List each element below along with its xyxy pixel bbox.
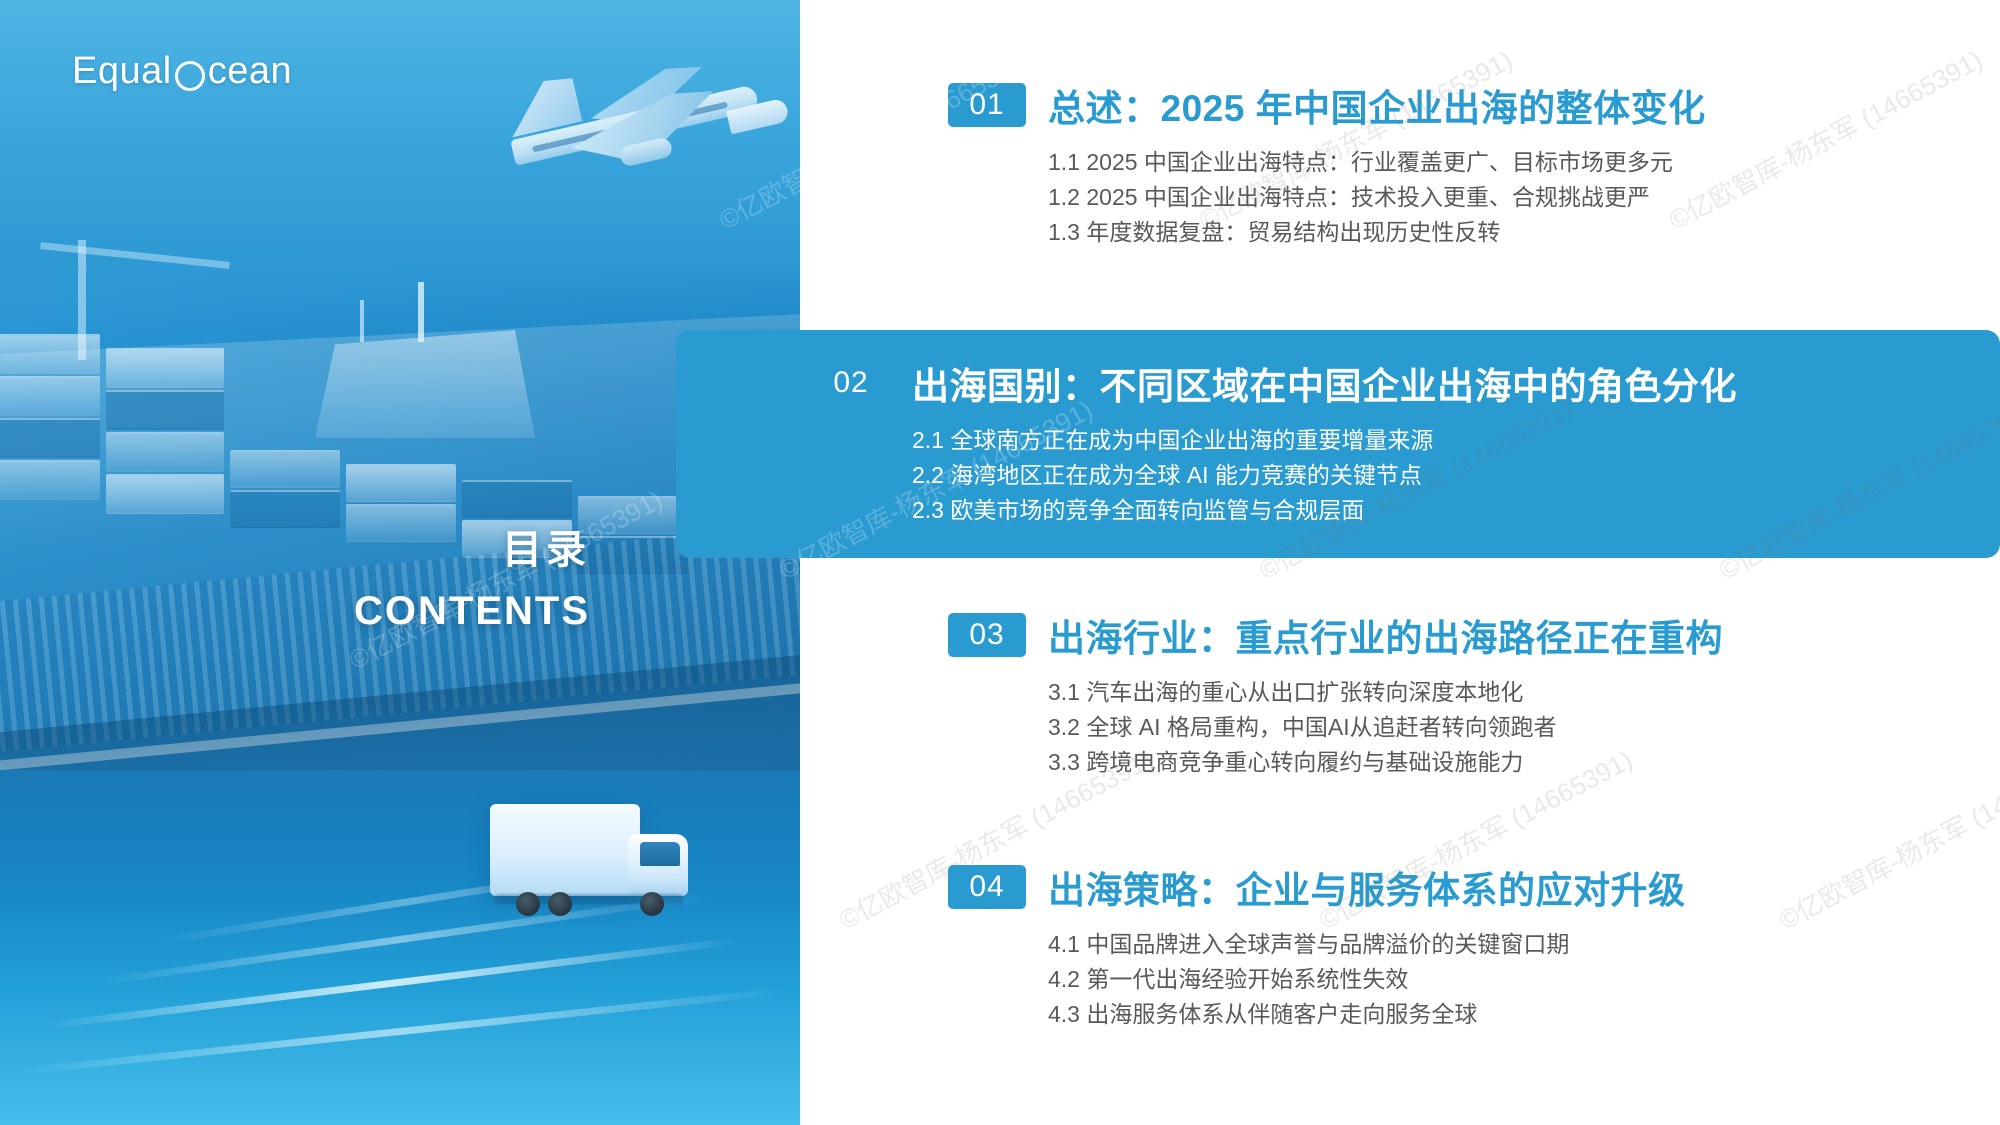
section-title: 总述：2025 年中国企业出海的整体变化 xyxy=(1048,78,1706,132)
toc-section-01[interactable]: 01 总述：2025 年中国企业出海的整体变化 1.1 2025 中国企业出海特… xyxy=(948,78,2000,250)
contents-title-cn: 目录 xyxy=(354,525,590,575)
truck-illustration xyxy=(490,790,700,950)
contents-heading: 目录 CONTENTS xyxy=(354,525,590,634)
section-header: 01 总述：2025 年中国企业出海的整体变化 xyxy=(948,78,2000,132)
list-item[interactable]: 2.2 海湾地区正在成为全球 AI 能力竞赛的关键节点 xyxy=(912,458,2000,493)
slide-contents-page: Equalcean 目录 CONTENTS 01 总述：2025 年中国企业出海… xyxy=(0,0,2000,1125)
section-title: 出海策略：企业与服务体系的应对升级 xyxy=(1048,860,1686,914)
list-item[interactable]: 4.1 中国品牌进入全球声誉与品牌溢价的关键窗口期 xyxy=(1048,927,2000,962)
section-title: 出海国别：不同区域在中国企业出海中的角色分化 xyxy=(912,356,1737,410)
section-header: 02 出海国别：不同区域在中国企业出海中的角色分化 xyxy=(812,356,2000,410)
brand-name-part1: Equal xyxy=(72,50,172,93)
section-subitems: 3.1 汽车出海的重心从出口扩张转向深度本地化 3.2 全球 AI 格局重构，中… xyxy=(948,675,2000,780)
list-item[interactable]: 4.3 出海服务体系从伴随客户走向服务全球 xyxy=(1048,997,2000,1032)
toc-panel: 01 总述：2025 年中国企业出海的整体变化 1.1 2025 中国企业出海特… xyxy=(812,0,2000,1125)
toc-section-02[interactable]: 02 出海国别：不同区域在中国企业出海中的角色分化 2.1 全球南方正在成为中国… xyxy=(676,330,2000,558)
list-item[interactable]: 3.1 汽车出海的重心从出口扩张转向深度本地化 xyxy=(1048,675,2000,710)
list-item[interactable]: 1.1 2025 中国企业出海特点：行业覆盖更广、目标市场更多元 xyxy=(1048,145,2000,180)
section-number-badge: 01 xyxy=(948,83,1026,127)
airplane-illustration xyxy=(470,38,800,208)
brand-name-part2: cean xyxy=(208,50,292,93)
cover-image-panel: Equalcean 目录 CONTENTS xyxy=(0,0,812,1125)
list-item[interactable]: 2.1 全球南方正在成为中国企业出海的重要增量来源 xyxy=(912,423,2000,458)
panel-divider xyxy=(800,0,812,1125)
section-subitems: 4.1 中国品牌进入全球声誉与品牌溢价的关键窗口期 4.2 第一代出海经验开始系… xyxy=(948,927,2000,1032)
toc-section-04[interactable]: 04 出海策略：企业与服务体系的应对升级 4.1 中国品牌进入全球声誉与品牌溢价… xyxy=(948,860,2000,1032)
toc-section-03[interactable]: 03 出海行业：重点行业的出海路径正在重构 3.1 汽车出海的重心从出口扩张转向… xyxy=(948,608,2000,780)
list-item[interactable]: 3.2 全球 AI 格局重构，中国AI从追赶者转向领跑者 xyxy=(1048,710,2000,745)
contents-title-en: CONTENTS xyxy=(354,589,590,634)
list-item[interactable]: 1.2 2025 中国企业出海特点：技术投入更重、合规挑战更严 xyxy=(1048,180,2000,215)
section-number-badge: 02 xyxy=(812,361,890,405)
brand-logo: Equalcean xyxy=(72,50,292,93)
section-number-badge: 04 xyxy=(948,865,1026,909)
list-item[interactable]: 3.3 跨境电商竞争重心转向履约与基础设施能力 xyxy=(1048,745,2000,780)
section-number-badge: 03 xyxy=(948,613,1026,657)
section-header: 03 出海行业：重点行业的出海路径正在重构 xyxy=(948,608,2000,662)
section-title: 出海行业：重点行业的出海路径正在重构 xyxy=(1048,608,1723,662)
section-subitems: 2.1 全球南方正在成为中国企业出海的重要增量来源 2.2 海湾地区正在成为全球… xyxy=(812,423,2000,528)
list-item[interactable]: 4.2 第一代出海经验开始系统性失效 xyxy=(1048,962,2000,997)
list-item[interactable]: 2.3 欧美市场的竞争全面转向监管与合规层面 xyxy=(912,493,2000,528)
section-header: 04 出海策略：企业与服务体系的应对升级 xyxy=(948,860,2000,914)
brand-ring-icon xyxy=(175,61,205,91)
section-subitems: 1.1 2025 中国企业出海特点：行业覆盖更广、目标市场更多元 1.2 202… xyxy=(948,145,2000,250)
list-item[interactable]: 1.3 年度数据复盘：贸易结构出现历史性反转 xyxy=(1048,215,2000,250)
